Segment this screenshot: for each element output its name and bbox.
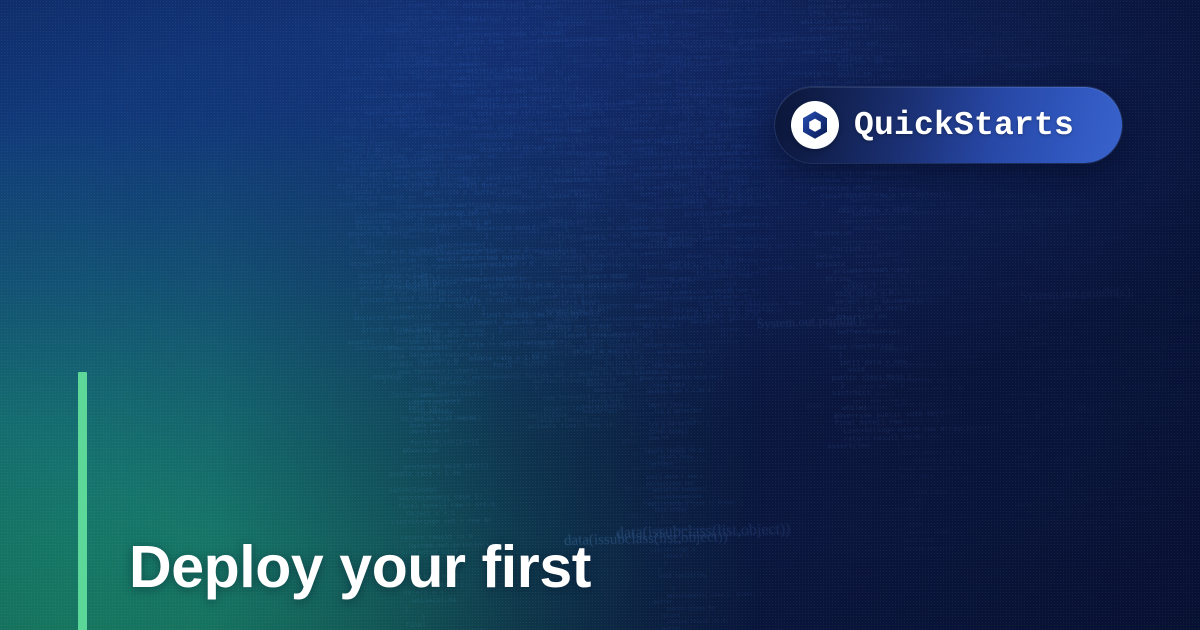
page-title: Deploy your first Smart Contract [129,372,591,630]
accent-bar [78,372,87,630]
quickstarts-badge[interactable]: QuickStarts [775,87,1122,163]
page-title-line-1: Deploy your first [129,529,591,605]
quickstarts-badge-label: QuickStarts [854,109,1074,142]
chainlink-hexagon-icon [791,101,839,149]
hero-headline-block: Deploy your first Smart Contract [78,372,591,630]
hero-banner: } List<String> out = new ArrayList<>(); … [0,0,1200,630]
